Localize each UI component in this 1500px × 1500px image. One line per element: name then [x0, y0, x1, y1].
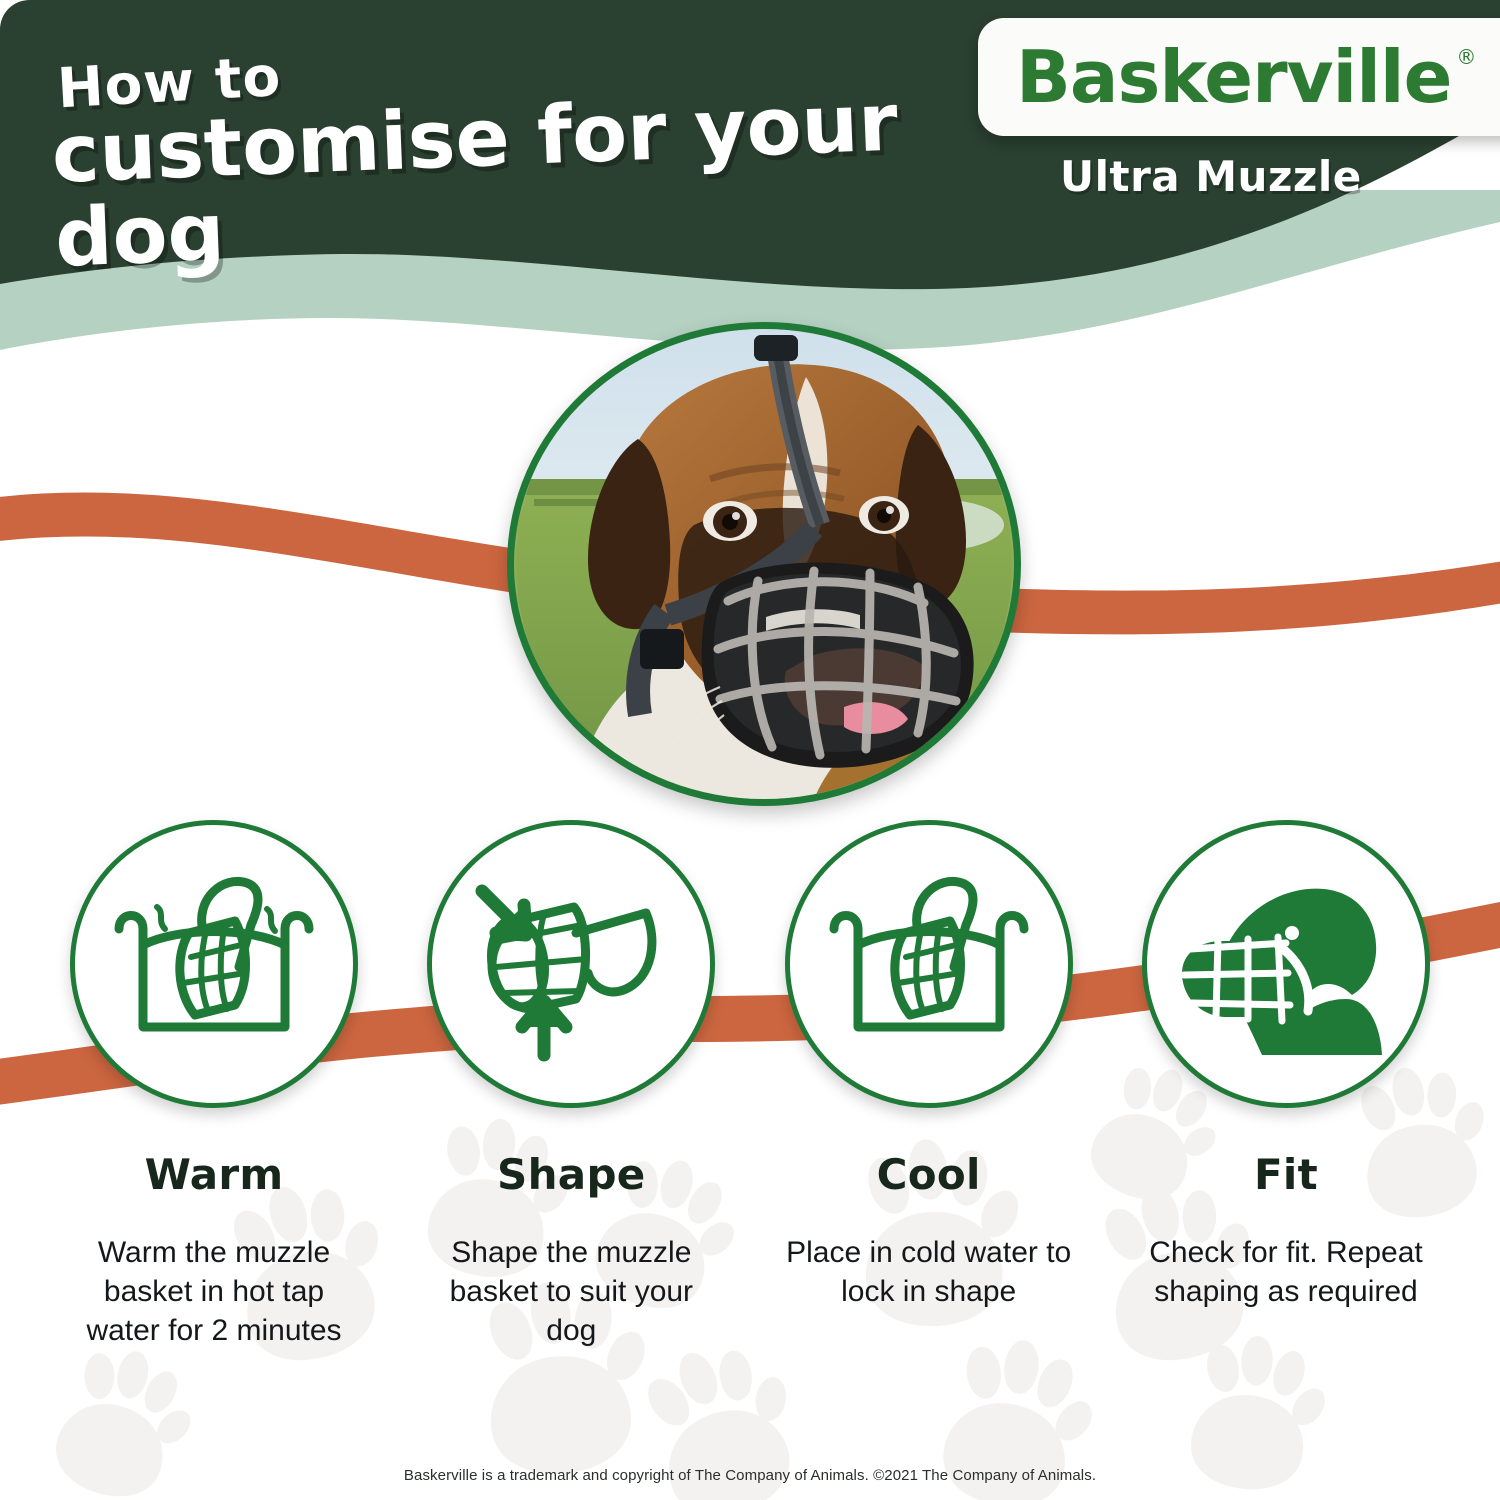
- step-fit-title: Fit: [1254, 1150, 1318, 1199]
- brand-logo-plate: Baskerville ®: [978, 18, 1500, 136]
- registered-trademark-icon: ®: [1456, 47, 1475, 67]
- step-shape-title: Shape: [497, 1150, 646, 1199]
- dog-with-muzzle-photo: [514, 329, 1014, 799]
- footer-legal-text: Baskerville is a trademark and copyright…: [0, 1467, 1500, 1484]
- step-shape-icon-circle: [427, 820, 715, 1108]
- steps-row: Warm Warm the muzzle basket in hot tap w…: [0, 820, 1500, 1460]
- hero-photo-circle: [507, 322, 1021, 806]
- muzzle-in-hot-water-basin-icon: [99, 849, 329, 1079]
- step-fit: Fit Check for fit. Repeat shaping as req…: [1130, 820, 1442, 1460]
- step-warm-description: Warm the muzzle basket in hot tap water …: [64, 1233, 364, 1350]
- header-title: How to customise for your dog: [46, 12, 957, 289]
- header-title-line2: customise for your dog: [50, 78, 956, 280]
- step-warm-icon-circle: [70, 820, 358, 1108]
- step-cool: Cool Place in cold water to lock in shap…: [773, 820, 1085, 1460]
- product-name: Ultra Muzzle: [1060, 152, 1362, 201]
- step-cool-title: Cool: [877, 1150, 981, 1199]
- brand-logo-text: Baskerville: [1016, 35, 1451, 119]
- dog-head-wearing-muzzle-icon: [1166, 849, 1406, 1079]
- muzzle-shaping-arrows-icon: [456, 849, 686, 1079]
- muzzle-in-cold-water-basin-icon: [814, 849, 1044, 1079]
- brand-logo-wordmark: Baskerville ®: [1016, 41, 1451, 113]
- infographic-canvas: How to customise for your dog Baskervill…: [0, 0, 1500, 1500]
- step-warm-title: Warm: [145, 1150, 284, 1199]
- step-shape: Shape Shape the muzzle basket to suit yo…: [415, 820, 727, 1460]
- step-cool-icon-circle: [785, 820, 1073, 1108]
- step-cool-description: Place in cold water to lock in shape: [779, 1233, 1079, 1311]
- step-warm: Warm Warm the muzzle basket in hot tap w…: [58, 820, 370, 1460]
- step-fit-icon-circle: [1142, 820, 1430, 1108]
- step-shape-description: Shape the muzzle basket to suit your dog: [421, 1233, 721, 1350]
- step-fit-description: Check for fit. Repeat shaping as require…: [1136, 1233, 1436, 1311]
